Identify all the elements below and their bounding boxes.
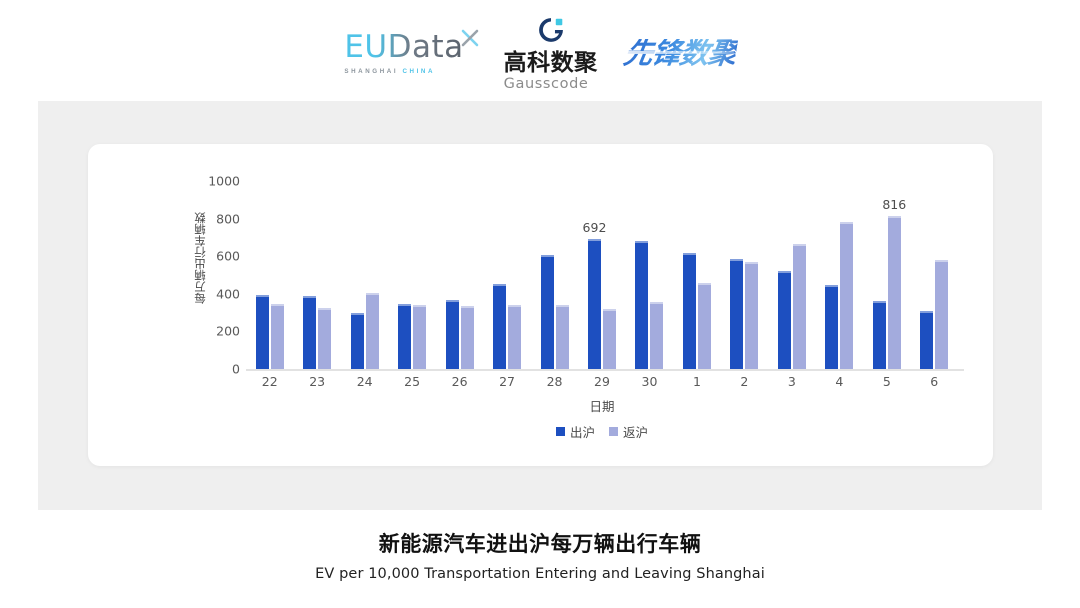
bar-group[interactable] [293,181,340,369]
gausscode-logo: 高科数聚 Gausscode [504,15,598,92]
bar-out[interactable] [398,304,411,369]
bar-highlight [730,259,743,261]
legend-swatch [609,427,618,436]
bar-out[interactable] [778,271,791,369]
legend-item-back[interactable]: 返沪 [609,422,648,441]
bar-group[interactable]: 692 [578,181,625,369]
bar-out[interactable] [730,259,743,369]
bar-back[interactable] [840,222,853,369]
bar-highlight [493,284,506,286]
bar-highlight [398,304,411,306]
bar-out[interactable]: 692 [588,239,601,369]
y-tick-label: 1000 [208,174,240,189]
x-tick-label: 28 [547,374,563,389]
legend-label: 出沪 [570,422,595,441]
bar-group[interactable] [673,181,720,369]
bar-highlight [935,260,948,262]
x-axis-baseline [246,369,964,371]
footer-title-cn: 新能源汽车进出沪每万辆出行车辆 数 [379,528,702,558]
bar-back[interactable] [603,309,616,369]
bar-back[interactable] [650,302,663,369]
x-axis-title: 日期 [246,396,958,415]
legend-swatch [556,427,565,436]
y-tick-label: 200 [216,324,240,339]
x-cross-icon [460,28,480,48]
bar-highlight [635,241,648,243]
x-tick-label: 23 [309,374,325,389]
bar-chart: 每万辆出行车辆数 02004006008001000 692816 222324… [88,144,993,466]
y-axis-tick-labels: 02004006008001000 [196,174,240,369]
bar-back[interactable] [461,306,474,369]
bar-highlight [256,295,269,297]
bar-back[interactable]: 816 [888,216,901,369]
evdata-tagline-country: CHINA [402,68,435,75]
bar-group[interactable] [721,181,768,369]
y-tick-label: 400 [216,286,240,301]
bar-back[interactable] [935,260,948,369]
bar-value-label: 692 [583,220,607,235]
x-tick-label: 4 [835,374,843,389]
bar-group[interactable] [436,181,483,369]
bar-highlight [446,300,459,302]
bar-group[interactable] [388,181,435,369]
bar-out[interactable] [351,313,364,369]
x-tick-label: 5 [883,374,891,389]
x-tick-label: 25 [404,374,420,389]
chart-outer-panel: 每万辆出行车辆数 02004006008001000 692816 222324… [38,101,1042,510]
bar-highlight [413,305,426,307]
evdata-tagline: SHANGHAI CHINA [344,68,435,75]
bar-group[interactable]: 816 [863,181,910,369]
evdata-wordmark: EUData [344,32,463,63]
bar-highlight [698,283,711,285]
x-tick-label: 24 [357,374,373,389]
bar-highlight [556,305,569,307]
evdata-tagline-city: SHANGHAI [344,68,402,75]
xianfeng-logo: 先锋数聚 [621,39,738,68]
bar-highlight [271,304,284,306]
bar-group[interactable] [341,181,388,369]
y-tick-label: 0 [232,362,240,377]
chart-card: 每万辆出行车辆数 02004006008001000 692816 222324… [88,144,993,466]
bar-value-label: 816 [882,197,906,212]
legend-item-out[interactable]: 出沪 [556,422,595,441]
bar-out[interactable] [683,253,696,369]
bar-group[interactable] [816,181,863,369]
bar-group[interactable] [483,181,530,369]
bar-highlight [541,255,554,257]
y-tick-label: 800 [216,211,240,226]
x-tick-label: 6 [930,374,938,389]
plot-area: 692816 [246,181,958,369]
x-tick-label: 22 [262,374,278,389]
chart-legend: 出沪返沪 [246,422,958,441]
bar-highlight [351,313,364,315]
bar-highlight [303,296,316,298]
gausscode-cn-name: 高科数聚 [504,52,598,75]
bar-back[interactable] [413,305,426,369]
bar-highlight [603,309,616,311]
bar-highlight [508,305,521,307]
x-tick-label: 27 [499,374,515,389]
footer-title-en: EV per 10,000 Transportation Entering an… [0,566,1080,582]
x-tick-label: 26 [452,374,468,389]
bar-back[interactable] [698,283,711,369]
bar-back[interactable] [508,305,521,369]
bar-highlight [778,271,791,273]
x-tick-label: 29 [594,374,610,389]
bar-out[interactable] [256,295,269,369]
gausscode-en-name: Gausscode [504,77,598,92]
x-tick-label: 2 [740,374,748,389]
bar-back[interactable] [745,262,758,369]
y-tick-label: 600 [216,249,240,264]
x-axis-tick-labels: 222324252627282930123456 [246,374,958,394]
bar-highlight [588,239,601,241]
bar-highlight [840,222,853,224]
bar-highlight [683,253,696,255]
bar-highlight [920,311,933,313]
bar-highlight [825,285,838,287]
bar-group[interactable] [768,181,815,369]
bar-highlight [318,308,331,310]
bar-out[interactable] [446,300,459,369]
x-tick-label: 3 [788,374,796,389]
bar-out[interactable] [873,301,886,369]
bar-highlight [888,216,901,218]
legend-label: 返沪 [623,422,648,441]
bar-out[interactable] [541,255,554,369]
bar-highlight [873,301,886,303]
bar-group[interactable] [911,181,958,369]
bar-highlight [461,306,474,308]
bar-out[interactable] [635,241,648,369]
footer-title-cn-text: 新能源汽车进出沪每万辆出行车辆 [379,532,702,556]
bar-group[interactable] [246,181,293,369]
bar-back[interactable] [271,304,284,369]
bar-highlight [793,244,806,246]
footer: 新能源汽车进出沪每万辆出行车辆 数 EV per 10,000 Transpor… [0,528,1080,582]
bar-out[interactable] [303,296,316,369]
x-tick-label: 1 [693,374,701,389]
bar-out[interactable] [493,284,506,369]
bar-group[interactable] [626,181,673,369]
bar-out[interactable] [825,285,838,369]
gausscode-mark-icon [536,15,566,45]
logo-bar: EUData SHANGHAI CHINA 高科数聚 Gausscode 先锋数… [0,22,1080,84]
bar-back[interactable] [366,293,379,369]
x-tick-label: 30 [642,374,658,389]
bar-back[interactable] [793,244,806,369]
evdata-logo: EUData SHANGHAI CHINA [344,32,477,75]
bar-highlight [366,293,379,295]
bar-highlight [745,262,758,264]
bar-back[interactable] [318,308,331,369]
bar-highlight [650,302,663,304]
bar-back[interactable] [556,305,569,369]
bar-out[interactable] [920,311,933,369]
bar-group[interactable] [531,181,578,369]
slide-root: EUData SHANGHAI CHINA 高科数聚 Gausscode 先锋数… [0,0,1080,608]
